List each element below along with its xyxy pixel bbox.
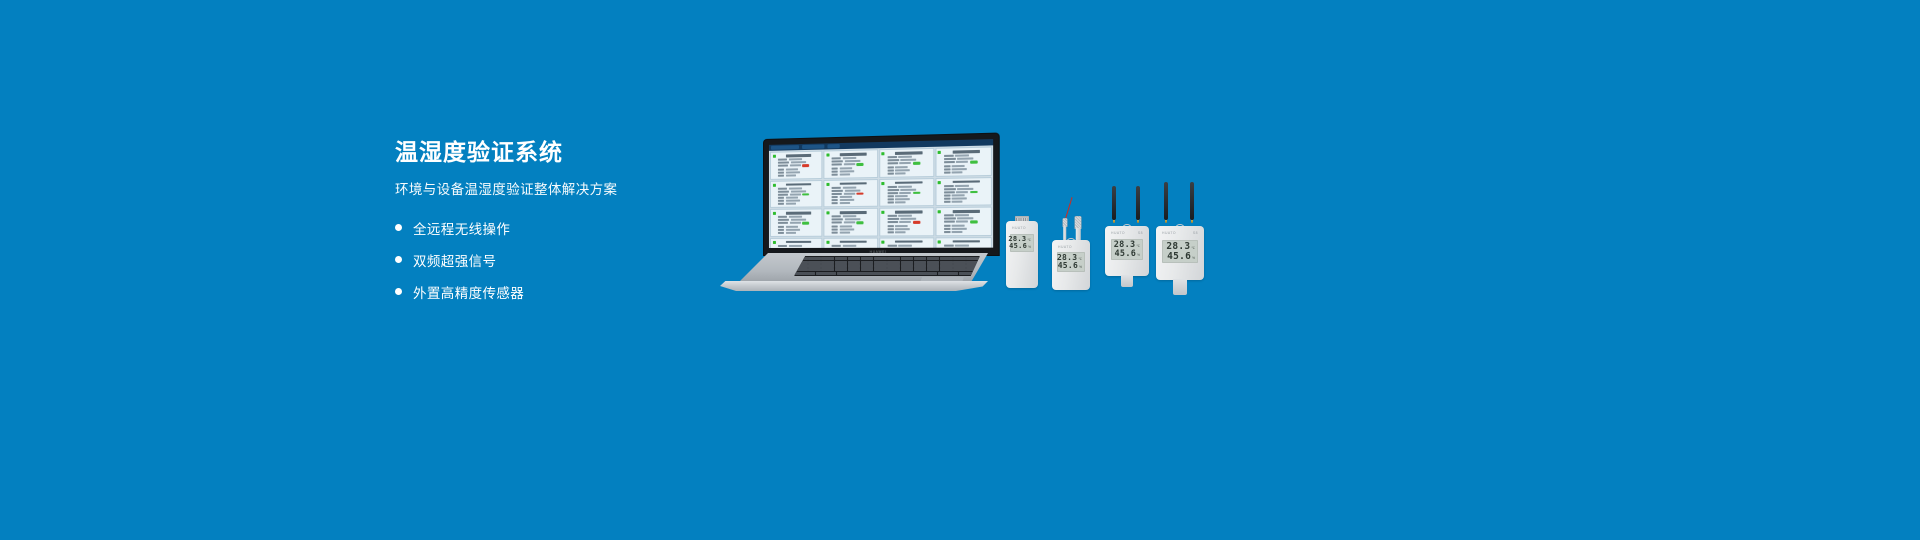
device-model-label: S8 xyxy=(1193,231,1198,235)
status-led-icon xyxy=(881,181,884,184)
sensor-card-title xyxy=(895,210,922,213)
sensor-field-label xyxy=(944,230,950,232)
keyboard-key xyxy=(966,257,979,260)
sensor-field-label xyxy=(832,196,838,198)
bottom-probe-icon xyxy=(1173,279,1187,295)
sensor-card-row xyxy=(944,190,989,193)
sensor-field-value xyxy=(789,193,800,195)
keyboard-key xyxy=(914,268,927,271)
sensor-field-label xyxy=(887,169,893,171)
banner-copy: 温湿度验证系统 环境与设备温湿度验证整体解决方案 全远程无线操作 双频超强信号 … xyxy=(395,138,755,314)
sensor-card-row xyxy=(832,221,875,224)
sensor-field-value xyxy=(898,185,912,187)
keyboard-key xyxy=(835,268,848,271)
feature-list: 全远程无线操作 双频超强信号 外置高精度传感器 xyxy=(395,218,755,302)
status-badge xyxy=(802,193,809,196)
sensor-card-title xyxy=(952,150,980,153)
status-badge xyxy=(857,192,864,195)
sensor-field-value xyxy=(952,201,963,203)
keyboard-key xyxy=(848,268,861,271)
sensor-field-label xyxy=(832,218,843,220)
sensor-field-label xyxy=(887,188,899,190)
sensor-field-label xyxy=(832,164,842,166)
sensor-card-row xyxy=(944,230,989,232)
feature-label: 全远程无线操作 xyxy=(413,218,510,238)
list-item: 全远程无线操作 xyxy=(395,218,755,238)
status-led-icon xyxy=(826,153,829,156)
status-led-icon xyxy=(938,151,941,154)
sensor-field-value xyxy=(952,224,965,226)
feature-label: 外置高精度传感器 xyxy=(413,282,524,302)
sensor-field-value xyxy=(845,160,861,162)
keyboard-key xyxy=(914,261,927,264)
keyboard-key xyxy=(821,268,834,271)
sensor-card-row xyxy=(944,227,989,229)
sensor-field-value xyxy=(840,173,850,175)
sensor-field-value xyxy=(785,225,797,227)
keyboard-key xyxy=(861,257,874,260)
sensor-field-label xyxy=(887,185,896,187)
sensor-card-title xyxy=(840,182,866,185)
sensor-field-label xyxy=(778,190,789,192)
sensor-card-row xyxy=(944,214,989,216)
keyboard-key xyxy=(940,268,953,271)
sensor-field-value xyxy=(899,221,911,223)
keyboard-key xyxy=(808,268,821,271)
sensor-field-value xyxy=(900,159,916,161)
sensor-field-label xyxy=(832,244,841,246)
sensor-field-value xyxy=(840,170,854,172)
laptop-base: HUAWEI xyxy=(718,253,988,291)
sensor-field-value xyxy=(900,218,916,220)
keyboard-key xyxy=(795,261,808,264)
sensor-field-value xyxy=(845,189,861,191)
sensor-card-row xyxy=(778,219,820,221)
laptop-keyboard xyxy=(794,256,980,276)
lcd-humidity-value: 45.6 xyxy=(1058,262,1078,270)
sensor-field-value xyxy=(840,167,852,169)
sensor-field-value xyxy=(895,224,908,226)
sensor-card-title xyxy=(952,210,980,213)
sensor-field-label xyxy=(944,158,956,160)
keyboard-key xyxy=(795,268,808,271)
keyboard-row xyxy=(795,264,979,267)
status-led-icon xyxy=(826,240,829,243)
status-led-icon xyxy=(772,212,775,215)
sensor-field-value xyxy=(844,192,855,194)
sensor-card xyxy=(935,207,992,236)
sensor-field-value xyxy=(840,231,850,233)
sensor-field-value xyxy=(895,195,908,197)
sensor-card-row xyxy=(887,224,931,226)
keyboard-key xyxy=(835,257,848,260)
lcd-humidity-value: 45.6 xyxy=(1009,243,1027,250)
sensor-field-value xyxy=(785,168,797,170)
sensor-field-value xyxy=(895,198,910,200)
keyboard-key xyxy=(887,261,900,264)
keyboard-key xyxy=(874,257,887,260)
lcd-humidity-row: 45.6 % xyxy=(1114,250,1140,259)
sensor-field-value xyxy=(955,214,969,216)
sensor-field-value xyxy=(957,217,973,219)
page-subtitle: 环境与设备温湿度验证整体解决方案 xyxy=(395,181,755,200)
sensor-field-value xyxy=(900,188,916,190)
sensor-card-row xyxy=(887,218,931,220)
sensor-card-row xyxy=(944,217,989,219)
sensor-field-label xyxy=(944,221,955,223)
status-badge xyxy=(802,222,809,225)
sensor-field-label xyxy=(778,171,784,173)
sensor-card-row xyxy=(778,202,820,205)
sensor-field-value xyxy=(840,225,852,227)
feature-label: 双频超强信号 xyxy=(413,250,496,270)
keyboard-key xyxy=(959,272,979,275)
keyboard-key xyxy=(821,257,834,260)
antenna-icon xyxy=(1164,182,1168,220)
status-led-icon xyxy=(938,210,941,213)
sensor-field-label xyxy=(778,174,784,176)
sensor-field-value xyxy=(785,171,799,173)
keyboard-key xyxy=(901,268,914,271)
lcd-humidity-row: 45.6 % xyxy=(1165,252,1195,262)
keyboard-key xyxy=(848,257,861,260)
sensor-field-value xyxy=(790,161,805,163)
sensor-card-row xyxy=(944,200,989,203)
sensor-card-row xyxy=(887,171,931,174)
sensor-card xyxy=(935,176,992,206)
lcd-humidity-unit: % xyxy=(1079,266,1082,269)
lcd-humidity-value: 45.6 xyxy=(1167,252,1191,262)
sensor-card-row xyxy=(832,218,875,220)
bullet-dot-icon xyxy=(395,256,402,263)
sensor-field-value xyxy=(790,219,805,221)
sensor-field-label xyxy=(832,199,838,201)
keyboard-key xyxy=(901,257,914,260)
probe-stem-icon xyxy=(1063,226,1067,241)
sensor-card-row xyxy=(887,231,931,233)
laptop-screen xyxy=(769,139,993,248)
sensor-field-value xyxy=(789,164,800,166)
sensor-field-value xyxy=(785,200,799,202)
keyboard-key xyxy=(966,264,979,267)
sensor-field-label xyxy=(778,231,784,233)
laptop-deck: HUAWEI xyxy=(738,253,988,283)
sensor-field-value xyxy=(840,202,850,204)
sensor-field-label xyxy=(887,162,898,164)
toolbar-item-monitor xyxy=(771,145,799,150)
keyboard-key xyxy=(835,264,848,267)
device-lcd: 28.3 ℃ 45.6 % xyxy=(1010,234,1034,252)
sensor-field-value xyxy=(895,231,906,233)
sensor-field-label xyxy=(832,231,838,233)
keyboard-key xyxy=(874,261,887,264)
status-led-icon xyxy=(881,240,884,243)
sensor-field-label xyxy=(832,157,841,159)
sensor-field-value xyxy=(952,230,963,232)
sensor-card-title xyxy=(786,212,812,215)
sensor-card-grid xyxy=(769,145,993,248)
sensor-card xyxy=(879,207,934,236)
sensor-field-label xyxy=(832,167,838,169)
sensor-card-row xyxy=(887,244,931,246)
bullet-dot-icon xyxy=(395,288,402,295)
lcd-humidity-unit: % xyxy=(1028,246,1031,249)
keyboard-key xyxy=(914,264,927,267)
sensor-field-value xyxy=(899,162,911,164)
sensor-field-label xyxy=(887,221,898,223)
sensor-field-value xyxy=(785,174,795,176)
sensor-field-value xyxy=(956,221,968,223)
sensor-field-value xyxy=(952,171,963,173)
laptop-product-image: HUAWEI HUAWEI xyxy=(718,140,988,300)
sensor-field-label xyxy=(887,172,893,174)
mesh-sensor-probe-icon xyxy=(1073,216,1083,240)
sensor-field-label xyxy=(944,194,950,196)
sensor-field-label xyxy=(887,215,896,217)
sensor-field-label xyxy=(887,228,893,230)
keyboard-key xyxy=(808,261,821,264)
sensor-field-label xyxy=(887,166,893,168)
keyboard-key xyxy=(887,264,900,267)
sensor-field-label xyxy=(887,198,893,200)
keyboard-key xyxy=(927,261,940,264)
list-item: 外置高精度传感器 xyxy=(395,282,755,302)
sensor-card-row xyxy=(778,231,820,233)
sensor-card-title xyxy=(840,153,866,156)
lcd-temperature-unit: ℃ xyxy=(1136,245,1140,248)
sensor-card-title xyxy=(952,240,980,243)
status-badge xyxy=(970,220,978,223)
sensor-field-label xyxy=(944,227,950,229)
keyboard-key xyxy=(795,257,808,260)
lcd-humidity-row: 45.6 % xyxy=(1013,243,1031,250)
sensor-field-label xyxy=(832,160,843,162)
keyboard-key xyxy=(966,268,979,271)
sensor-field-label xyxy=(944,198,950,200)
sensor-field-label xyxy=(887,195,893,197)
sensor-field-label xyxy=(832,173,838,175)
keyboard-key xyxy=(927,268,940,271)
lcd-temperature-unit: ℃ xyxy=(1078,258,1082,261)
list-item: 双频超强信号 xyxy=(395,250,755,270)
laptop-front-edge xyxy=(720,281,988,291)
sensor-field-value xyxy=(895,201,906,203)
sensor-field-value xyxy=(895,228,910,230)
sensor-field-value xyxy=(899,192,911,194)
status-led-icon xyxy=(772,155,775,158)
sensor-field-label xyxy=(778,168,784,170)
sensor-field-value xyxy=(898,215,912,217)
device-probe-logger: HUATO 28.3 ℃ 45.6 % xyxy=(1052,196,1090,290)
sensor-card-title xyxy=(786,183,812,186)
sensor-card-row xyxy=(778,215,820,217)
sensor-field-label xyxy=(887,244,896,246)
sensor-field-value xyxy=(785,228,799,230)
device-model-label: S8 xyxy=(1138,231,1143,235)
sensor-field-value xyxy=(952,227,967,229)
sensor-field-value xyxy=(843,186,856,188)
bullet-dot-icon xyxy=(395,224,402,231)
sensor-field-value xyxy=(843,244,856,246)
keyboard-key xyxy=(927,257,940,260)
sensor-field-label xyxy=(832,222,842,224)
sensor-field-value xyxy=(840,199,854,201)
lcd-humidity-value: 45.6 xyxy=(1114,250,1136,259)
sensor-field-label xyxy=(944,168,950,170)
status-led-icon xyxy=(772,240,775,243)
lcd-humidity-row: 45.6 % xyxy=(1060,262,1082,270)
sensor-field-label xyxy=(944,214,954,216)
keyboard-key xyxy=(940,257,953,260)
sensor-field-label xyxy=(778,244,787,246)
sensor-field-value xyxy=(956,191,968,193)
device-dual-antenna-logger-2: HUATO S8 28.3 ℃ 45.6 % xyxy=(1156,182,1204,294)
sensor-field-value xyxy=(790,190,805,192)
sensor-field-value xyxy=(789,222,800,224)
sensor-card-row xyxy=(887,221,931,224)
status-badge xyxy=(970,190,978,193)
device-body: HUATO S8 28.3 ℃ 45.6 % xyxy=(1105,226,1149,276)
sensor-card-row xyxy=(944,224,989,226)
sensor-field-value xyxy=(788,216,801,218)
keyboard-key xyxy=(861,261,874,264)
sensor-field-label xyxy=(944,155,954,157)
sensor-field-value xyxy=(895,166,908,168)
page-title: 温湿度验证系统 xyxy=(395,138,755,167)
sensor-field-value xyxy=(895,172,906,174)
sensor-field-label xyxy=(832,189,843,191)
keyboard-key xyxy=(861,264,874,267)
sensor-field-label xyxy=(778,203,784,205)
status-led-icon xyxy=(826,182,829,185)
sensor-card-row xyxy=(778,225,820,227)
sensor-field-label xyxy=(832,193,842,195)
status-led-icon xyxy=(881,152,884,155)
sensor-card xyxy=(879,237,934,248)
device-brand-label: HUATO xyxy=(1111,231,1125,235)
sensor-field-label xyxy=(778,228,784,230)
sensor-field-label xyxy=(944,165,950,167)
sensor-field-value xyxy=(952,197,967,199)
sensor-card-row xyxy=(832,244,875,246)
sensor-card xyxy=(770,151,823,180)
sensor-field-value xyxy=(785,231,795,233)
sensor-field-value xyxy=(952,167,967,169)
sensor-field-label xyxy=(887,218,899,220)
keyboard-key xyxy=(887,257,900,260)
sensor-card-title xyxy=(840,211,866,214)
sensor-field-label xyxy=(778,193,788,195)
lcd-humidity-unit: % xyxy=(1192,257,1195,260)
keyboard-key xyxy=(887,268,900,271)
sensor-card xyxy=(824,179,878,208)
device-brand-label: HUATO xyxy=(1162,231,1176,235)
keyboard-key xyxy=(901,261,914,264)
status-badge xyxy=(857,221,864,224)
keyboard-key xyxy=(953,268,966,271)
sensor-card xyxy=(935,237,992,248)
sensor-card-row xyxy=(778,173,820,176)
sensor-card xyxy=(935,146,992,176)
bottom-probe-icon xyxy=(1121,275,1133,287)
status-led-icon xyxy=(772,183,775,186)
sensor-field-value xyxy=(956,161,968,163)
sensor-field-label xyxy=(944,188,956,190)
sensor-field-value xyxy=(843,215,856,217)
sensor-field-value xyxy=(898,156,912,158)
status-badge xyxy=(802,164,809,167)
keyboard-key xyxy=(848,264,861,267)
sensor-field-value xyxy=(844,163,855,165)
sensor-field-label xyxy=(944,201,950,203)
sensor-field-label xyxy=(778,216,787,218)
sensor-card xyxy=(879,178,934,207)
sensor-card xyxy=(824,237,878,248)
lcd-humidity-unit: % xyxy=(1137,254,1140,257)
sensor-field-label xyxy=(887,201,893,203)
keyboard-key xyxy=(874,268,887,271)
keyboard-key xyxy=(816,272,836,275)
status-badge xyxy=(970,160,978,163)
sensor-card-row xyxy=(944,220,989,223)
sensor-field-label xyxy=(778,197,784,199)
keyboard-key xyxy=(795,272,815,275)
sensor-field-value xyxy=(785,197,797,199)
sensor-field-value xyxy=(844,222,855,224)
device-body: HUATO 28.3 ℃ 45.6 % xyxy=(1052,240,1090,290)
sensor-card-row xyxy=(832,225,875,227)
keyboard-key xyxy=(966,261,979,264)
keyboard-key xyxy=(914,257,927,260)
keyboard-key xyxy=(861,268,874,271)
sensor-card-row xyxy=(778,228,820,230)
sensor-field-label xyxy=(944,244,954,246)
sensor-field-value xyxy=(788,158,801,160)
sensor-field-value xyxy=(788,187,801,189)
sensor-field-value xyxy=(957,157,973,159)
sensor-field-value xyxy=(952,194,965,196)
sensor-card-title xyxy=(786,154,812,157)
antenna-icon xyxy=(1136,186,1140,220)
toolbar-item-records xyxy=(802,144,824,149)
antenna-icon xyxy=(1190,182,1194,220)
sensor-field-value xyxy=(788,244,801,246)
sensor-card-row xyxy=(832,215,875,217)
sensor-field-label xyxy=(778,187,787,189)
device-brand-label: HUATO xyxy=(1012,226,1026,230)
sensor-field-label xyxy=(832,215,841,217)
sensor-card-row xyxy=(887,214,931,216)
sensor-field-value xyxy=(840,228,854,230)
sensor-field-value xyxy=(898,244,912,246)
banner-stage: 温湿度验证系统 环境与设备温湿度验证整体解决方案 全远程无线操作 双频超强信号 … xyxy=(0,0,1920,540)
status-led-icon xyxy=(938,240,941,243)
sensor-field-label xyxy=(778,219,789,221)
keyboard-key xyxy=(821,261,834,264)
status-led-icon xyxy=(938,181,941,184)
sensor-field-label xyxy=(887,231,893,233)
sensor-card xyxy=(879,148,934,178)
sensor-card-row xyxy=(944,170,989,173)
sensor-card-row xyxy=(944,244,989,246)
keyboard-key xyxy=(874,264,887,267)
status-badge xyxy=(912,221,919,224)
device-lcd: 28.3 ℃ 45.6 % xyxy=(1162,240,1198,263)
sensor-field-label xyxy=(944,161,955,163)
sensor-field-label xyxy=(832,186,841,188)
status-led-icon xyxy=(881,211,884,214)
keyboard-key xyxy=(953,257,966,260)
